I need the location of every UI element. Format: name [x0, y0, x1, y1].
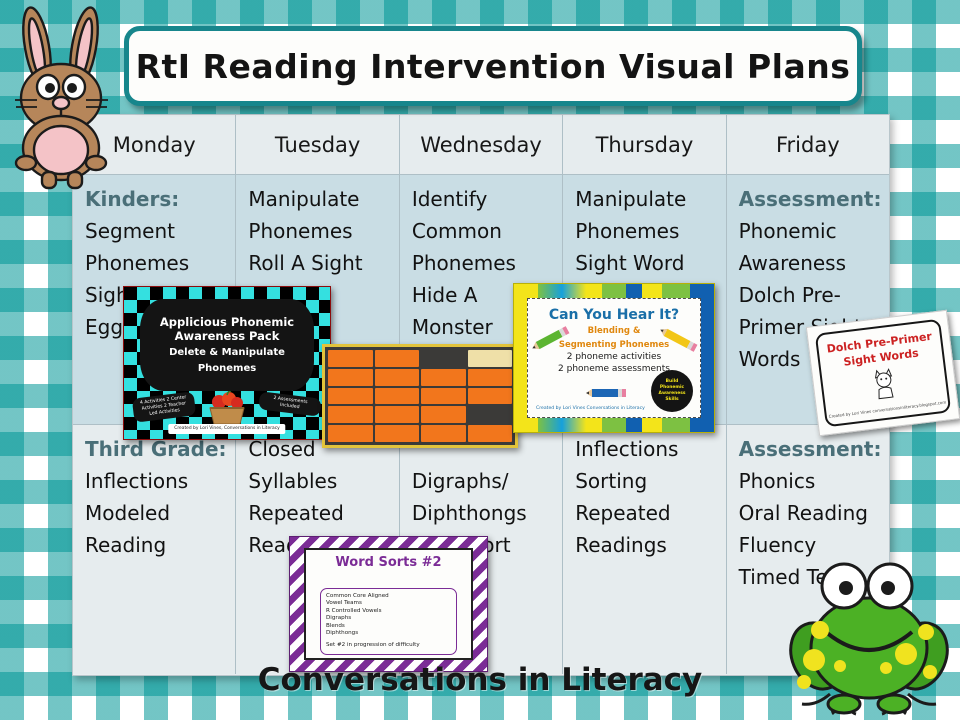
pocket-card-monster: [468, 350, 513, 367]
third-monday-cell: Third Grade: Inflections Modeled Reading: [73, 425, 236, 674]
pocket-card: [468, 369, 513, 386]
plan-line: Segment: [85, 215, 225, 247]
product-image-can-you-hear-it: Can You Hear It? Blending & Segmenting P…: [513, 283, 715, 433]
pocket-card: [375, 350, 420, 367]
photo-hide-a-monster-pocket-chart: [322, 344, 518, 448]
applicious-tag-right: 2 Assessments Included: [258, 391, 322, 416]
applicious-tag-left: 4 Activities 2 Center Activities 2 Teach…: [132, 391, 196, 422]
cat-icon: [865, 365, 903, 403]
plan-line: Reading: [85, 529, 225, 561]
pocket-card: [468, 406, 513, 423]
plan-line: Common: [412, 215, 552, 247]
word-sorts-note: Set #2 in progression of difficulty: [326, 642, 451, 649]
day-header-label: Friday: [776, 133, 840, 157]
assessment-label: Assessment:: [739, 433, 879, 465]
pocket-card: [421, 406, 466, 423]
pocket-card: [375, 425, 420, 442]
pocket-card: [468, 388, 513, 405]
plan-line: Phonemes: [85, 247, 225, 279]
assessment-label: Assessment:: [739, 183, 879, 215]
pocket-card: [375, 388, 420, 405]
pocket-card: [421, 425, 466, 442]
pocket-card: [328, 406, 373, 423]
pocket-card: [328, 369, 373, 386]
word-sorts-feature-box: Common Core Aligned Vowel Teams R Contro…: [320, 588, 457, 655]
word-sorts-item: Blends: [326, 623, 451, 630]
plan-line: Diphthongs: [412, 497, 552, 529]
day-header-label: Thursday: [596, 133, 694, 157]
plan-line: Repeated: [575, 497, 715, 529]
day-header-thursday: Thursday: [563, 115, 726, 175]
day-header-tuesday: Tuesday: [236, 115, 399, 175]
plan-line: Inflections: [85, 465, 225, 497]
dolch-inner: Dolch Pre-Primer Sight Words Created by …: [815, 319, 952, 428]
word-sorts-item: Common Core Aligned: [326, 593, 451, 600]
product-image-dolch-pre-primer-sight-words: Dolch Pre-Primer Sight Words Created by …: [806, 310, 960, 436]
word-sorts-item: Diphthongs: [326, 630, 451, 637]
product-image-applicious-phonemic-awareness-pack: Applicious Phonemic Awareness Pack Delet…: [123, 286, 331, 440]
can-you-hear-it-seal: Build Phonemic Awareness Skills: [651, 370, 693, 412]
plan-line: Digraphs/: [412, 465, 552, 497]
plan-line: Phonemes: [248, 215, 388, 247]
applicious-credit: Created by Lori Vines, Conversations in …: [168, 424, 285, 434]
plan-line: Modeled: [85, 497, 225, 529]
word-sorts-item: Vowel Teams: [326, 600, 451, 607]
pocket-card: [375, 369, 420, 386]
plan-line: Dolch Pre-: [739, 279, 879, 311]
pocket-card: [421, 388, 466, 405]
day-header-label: Monday: [113, 133, 196, 157]
applicious-plaque: Applicious Phonemic Awareness Pack Delet…: [140, 299, 314, 391]
plan-line: Phonemic: [739, 215, 879, 247]
pencil-blue-icon: [586, 387, 626, 399]
table-header-row: Monday Tuesday Wednesday Thursday Friday: [73, 115, 889, 175]
plan-line: Manipulate: [248, 183, 388, 215]
plan-line: Phonemes: [412, 247, 552, 279]
pocket-card: [328, 425, 373, 442]
can-you-hear-it-title: Can You Hear It?: [528, 307, 700, 323]
day-header-label: Tuesday: [275, 133, 360, 157]
pocket-card: [421, 369, 466, 386]
page-title: RtI Reading Intervention Visual Plans: [136, 47, 851, 86]
pocket-card: [421, 350, 466, 367]
apple-basket-icon: [205, 391, 249, 425]
applicious-title-line2: Awareness Pack: [175, 329, 280, 343]
pocket-card: [328, 350, 373, 367]
word-sorts-item: R Controlled Vowels: [326, 608, 451, 615]
plan-line: Readings: [575, 529, 715, 561]
plan-line: Repeated: [248, 497, 388, 529]
applicious-subtitle-line1: Delete & Manipulate: [169, 346, 285, 359]
plan-line: Oral Reading: [739, 497, 879, 529]
dolch-credit: Created by Lori Vines conversationsinlit…: [827, 399, 949, 419]
page-title-banner: RtI Reading Intervention Visual Plans: [124, 26, 862, 106]
pocket-card: [375, 406, 420, 423]
day-header-label: Wednesday: [420, 133, 542, 157]
plan-line: Phonemes: [575, 215, 715, 247]
word-sorts-item: Digraphs: [326, 615, 451, 622]
plan-line: Identify: [412, 183, 552, 215]
word-sorts-title: Word Sorts #2: [312, 555, 465, 570]
word-sorts-inner: Word Sorts #2 Common Core Aligned Vowel …: [304, 548, 473, 660]
day-header-wednesday: Wednesday: [400, 115, 563, 175]
can-you-hear-it-bullet1: 2 phoneme activities: [528, 351, 700, 363]
plan-line: Syllables: [248, 465, 388, 497]
plan-line: Sight Word: [575, 247, 715, 279]
third-thursday-cell: Inflections Sorting Repeated Readings: [563, 425, 726, 674]
applicious-subtitle-line2: Phonemes: [198, 362, 256, 375]
plan-line: Inflections: [575, 433, 715, 465]
can-you-hear-it-credit: Created by Lori Vines Conversations in L…: [536, 406, 645, 412]
plan-line: Sorting: [575, 465, 715, 497]
pocket-card: [468, 425, 513, 442]
frog-clipart: [778, 548, 960, 718]
plan-line: Manipulate: [575, 183, 715, 215]
product-image-word-sorts-2: Word Sorts #2 Common Core Aligned Vowel …: [289, 536, 488, 672]
applicious-title-line1: Applicious Phonemic: [160, 315, 294, 329]
plan-line: Phonics: [739, 465, 879, 497]
bunny-clipart: [4, 0, 122, 190]
day-header-friday: Friday: [727, 115, 889, 175]
can-you-hear-it-inner: Can You Hear It? Blending & Segmenting P…: [527, 298, 701, 418]
pocket-card: [328, 388, 373, 405]
plan-line: Roll A Sight: [248, 247, 388, 279]
plan-line: Awareness: [739, 247, 879, 279]
